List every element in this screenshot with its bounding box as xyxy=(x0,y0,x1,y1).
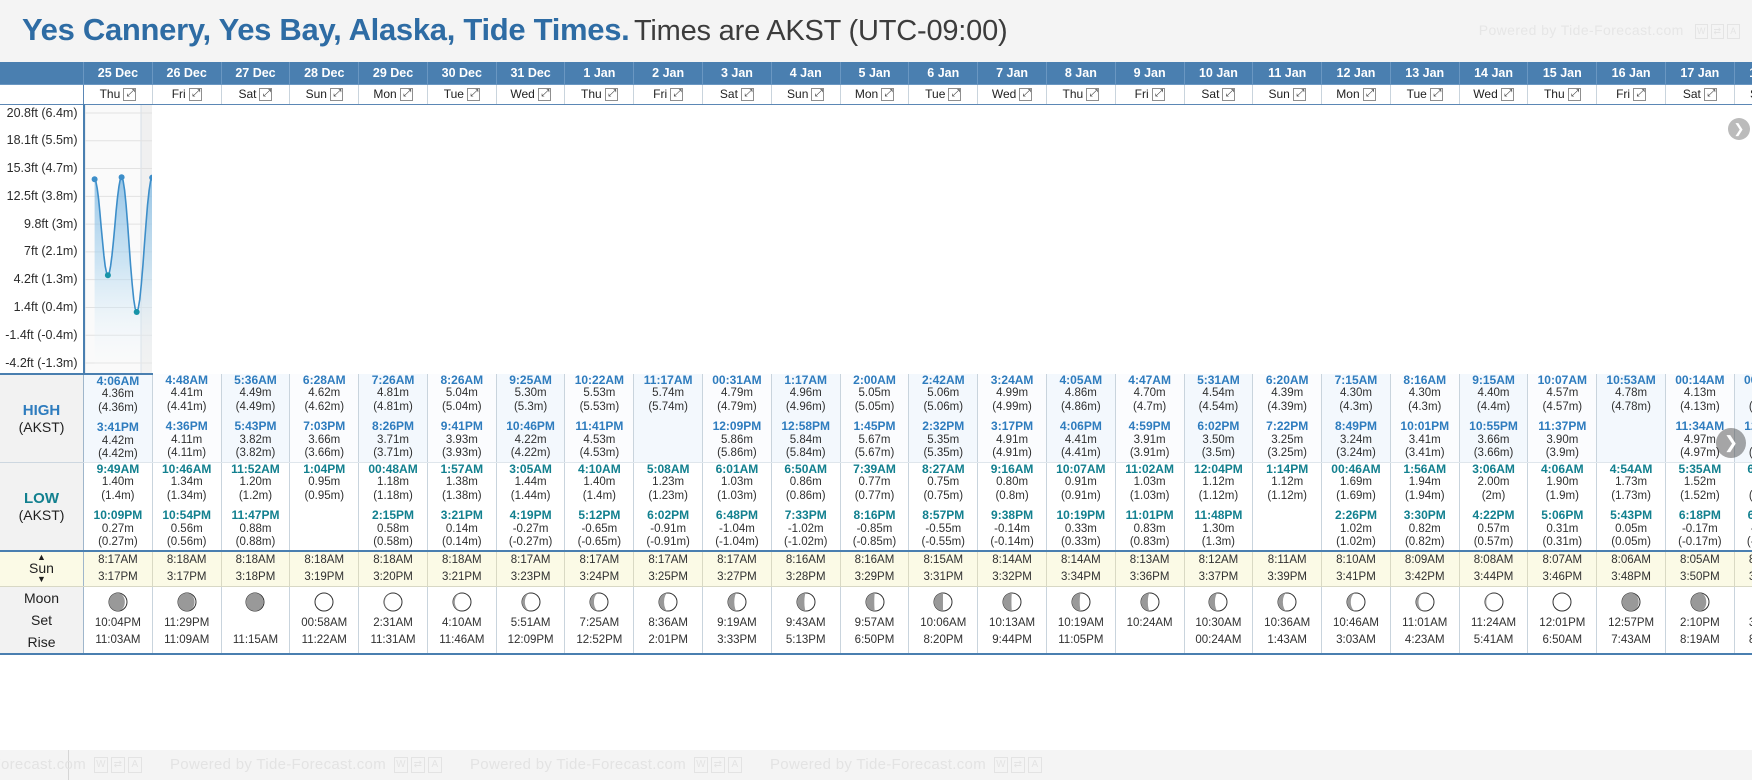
tide-entry: 1:45PM5.67m(5.67m) xyxy=(841,420,909,461)
high-tide-cell: 10:53AM4.78m(4.78m) xyxy=(1597,374,1666,463)
low-tide-time: 8:16PM xyxy=(841,509,909,523)
weekday-label: Thu xyxy=(100,87,121,101)
date-header-cell[interactable]: 16 Jan xyxy=(1597,62,1666,84)
weekday-cell[interactable]: Sat xyxy=(1665,84,1734,104)
sunset-time: 3:25PM xyxy=(634,569,702,586)
low-tide-height-alt: (1.12m) xyxy=(1253,490,1321,504)
moonrise-time: 5:41AM xyxy=(1460,632,1528,649)
tide-entry: 4:47AM4.70m(4.7m) xyxy=(1116,374,1184,415)
sun-cell: 8:05AM3:50PM xyxy=(1665,551,1734,587)
sunrise-time: 8:16AM xyxy=(772,552,840,569)
tide-entry: 5:06PM0.31m(0.31m) xyxy=(1528,509,1596,550)
date-header-cell[interactable]: 26 Dec xyxy=(152,62,221,84)
date-header-cell[interactable]: 8 Jan xyxy=(1046,62,1115,84)
weekday-label: Sun xyxy=(787,87,808,101)
high-tide-height: 4.57m xyxy=(1528,387,1596,401)
sunset-time: 3:17PM xyxy=(153,569,221,586)
low-tide-time: 4:06AM xyxy=(1528,463,1596,477)
low-tide-time: 3:30PM xyxy=(1391,509,1459,523)
date-header-cell[interactable]: 6 Jan xyxy=(909,62,978,84)
moonrise-label-text: Rise xyxy=(0,631,83,653)
sunrise-time: 8:09AM xyxy=(1391,552,1459,569)
scroll-right-button[interactable]: ❯ xyxy=(1716,428,1746,458)
low-tide-time: 11:47PM xyxy=(222,509,290,523)
high-tide-height: 4.41m xyxy=(1047,434,1115,448)
weekday-cell[interactable]: Mon xyxy=(1322,84,1391,104)
moonrise-time: 6:50AM xyxy=(1528,632,1596,649)
low-tide-time: 6:51PM xyxy=(1735,509,1752,523)
y-axis-tick-label: 18.1ft (5.5m) xyxy=(7,133,78,147)
low-tide-height: 0.14m xyxy=(428,523,496,537)
weekday-cell[interactable]: Tue xyxy=(1390,84,1459,104)
high-tide-height: 4.54m xyxy=(1185,387,1253,401)
high-tide-cell: 1:17AM4.96m(4.96m)12:58PM5.84m(5.84m) xyxy=(771,374,840,463)
moon-phase-icon xyxy=(1277,592,1297,612)
high-tide-height: 5.53m xyxy=(565,387,633,401)
weekday-cell[interactable]: Sun xyxy=(1734,84,1752,104)
low-tide-height-alt: (-0.55m) xyxy=(909,536,977,550)
expand-icon[interactable] xyxy=(881,88,894,101)
sun-cell: 8:12AM3:37PM xyxy=(1184,551,1253,587)
high-tide-height: 5.05m xyxy=(841,387,909,401)
expand-icon[interactable] xyxy=(259,88,272,101)
tide-entry: 1:17AM4.96m(4.96m) xyxy=(772,374,840,415)
low-tide-height: -0.65m xyxy=(565,523,633,537)
expand-icon[interactable] xyxy=(1704,88,1717,101)
expand-icon[interactable] xyxy=(189,88,202,101)
moonset-time: 10:36AM xyxy=(1253,615,1321,632)
low-tide-time: 2:26PM xyxy=(1322,509,1390,523)
expand-icon[interactable] xyxy=(400,88,413,101)
high-tide-height: 4.49m xyxy=(222,387,290,401)
high-tide-height-alt: (5.74m) xyxy=(634,401,702,415)
sunset-time: 3:50PM xyxy=(1666,569,1734,586)
tide-entry: 11:01PM0.83m(0.83m) xyxy=(1116,509,1184,550)
sun-cell: 8:18AM3:20PM xyxy=(359,551,428,587)
weekday-cell[interactable]: Mon xyxy=(840,84,909,104)
tide-entry: 10:46AM1.34m(1.34m) xyxy=(153,463,221,504)
high-tide-height: 3.91m xyxy=(1116,434,1184,448)
date-header-cell[interactable]: 28 Dec xyxy=(290,62,359,84)
moonrise-time: 11:46AM xyxy=(428,632,496,649)
low-tide-height: 1.73m xyxy=(1597,476,1665,490)
tide-entry: 2:32PM5.35m(5.35m) xyxy=(909,420,977,461)
low-tide-time: 10:19PM xyxy=(1047,509,1115,523)
moon-phase-icon xyxy=(1208,592,1228,612)
weekday-label: Fri xyxy=(172,87,186,101)
weekday-cell[interactable]: Fri xyxy=(1597,84,1666,104)
moon-phase-icon xyxy=(383,592,403,612)
weekday-cell[interactable]: Fri xyxy=(1115,84,1184,104)
weekday-cell[interactable]: Fri xyxy=(152,84,221,104)
low-tide-height: 1.03m xyxy=(703,476,771,490)
sunrise-time: 8:17AM xyxy=(703,552,771,569)
tide-entry: 2:42AM5.06m(5.06m) xyxy=(909,374,977,415)
expand-icon[interactable] xyxy=(670,88,683,101)
low-tide-cell: 1:57AM1.38m(1.38m)3:21PM0.14m(0.14m) xyxy=(427,462,496,551)
low-tide-cell: 11:02AM1.03m(1.03m)11:01PM0.83m(0.83m) xyxy=(1115,462,1184,551)
high-tide-height: 4.36m xyxy=(84,388,152,402)
moonrise-time: 11:31AM xyxy=(359,632,427,649)
high-tide-time: 10:22AM xyxy=(565,374,633,388)
low-tide-cell: 10:46AM1.34m(1.34m)10:54PM0.56m(0.56m) xyxy=(152,462,221,551)
low-tide-height-alt: (0.91m) xyxy=(1047,490,1115,504)
weekday-cell[interactable]: Wed xyxy=(1459,84,1528,104)
sunset-time: 3:41PM xyxy=(1322,569,1390,586)
high-tide-time: 9:41PM xyxy=(428,420,496,434)
expand-icon[interactable] xyxy=(1363,88,1376,101)
low-tide-height-alt: (1.73m) xyxy=(1597,490,1665,504)
tide-entry: 11:17AM5.74m(5.74m) xyxy=(634,374,702,415)
tide-entry: 7:03PM3.66m(3.66m) xyxy=(290,420,358,461)
weekday-label: Thu xyxy=(581,87,602,101)
tide-entry: 4:06AM1.90m(1.9m) xyxy=(1528,463,1596,504)
sun-cell: 8:16AM3:28PM xyxy=(771,551,840,587)
high-tide-time: 1:17AM xyxy=(772,374,840,388)
high-tide-time: 10:01PM xyxy=(1391,420,1459,434)
sun-cell: 8:06AM3:48PM xyxy=(1597,551,1666,587)
moonrise-time: 3:33PM xyxy=(703,632,771,649)
watermark-badge-swap: ⇄ xyxy=(1011,757,1025,773)
high-tide-height: 5.84m xyxy=(772,434,840,448)
low-tide-height: 1.31m xyxy=(1735,476,1752,490)
moonset-time: 9:43AM xyxy=(772,615,840,632)
high-tide-time: 12:09PM xyxy=(703,420,771,434)
high-tide-height-alt: (4.11m) xyxy=(153,447,221,461)
moonrise-time: 11:03AM xyxy=(84,632,152,649)
date-header-cell[interactable]: 11 Jan xyxy=(1253,62,1322,84)
high-tide-time: 7:03PM xyxy=(290,420,358,434)
date-header-cell[interactable]: 18 Jan xyxy=(1734,62,1752,84)
tide-entry: 6:50AM0.86m(0.86m) xyxy=(772,463,840,504)
tide-entry: 3:21PM0.14m(0.14m) xyxy=(428,509,496,550)
high-tide-height: 3.71m xyxy=(359,434,427,448)
low-tide-time: 00:48AM xyxy=(359,463,427,477)
watermark-badge-w: W xyxy=(394,757,408,773)
moon-cell: 10:06AM8:20PM xyxy=(909,586,978,654)
watermark-badges: W⇄A xyxy=(994,757,1042,773)
tide-entry: 10:55PM3.66m(3.66m) xyxy=(1460,420,1528,461)
powered-by-text: Powered by Tide-Forecast.comW⇄A xyxy=(770,756,1070,773)
sunset-time: 3:52PM xyxy=(1735,569,1752,586)
sun-cell: 8:11AM3:39PM xyxy=(1253,551,1322,587)
weekday-label: Mon xyxy=(855,87,878,101)
y-axis-tick-label: 9.8ft (3m) xyxy=(24,217,78,231)
high-tide-time: 5:31AM xyxy=(1185,374,1253,388)
moon-phase-icon xyxy=(1552,592,1572,612)
sun-cell: 8:18AM3:19PM xyxy=(290,551,359,587)
low-tide-height: 0.86m xyxy=(772,476,840,490)
expand-icon[interactable] xyxy=(123,88,136,101)
low-tide-height: 0.57m xyxy=(1460,523,1528,537)
high-tide-time: 4:06AM xyxy=(84,375,152,389)
low-tide-height: -1.04m xyxy=(703,523,771,537)
date-header-corner xyxy=(0,62,84,84)
sun-cell: 8:14AM3:34PM xyxy=(1046,551,1115,587)
high-tide-time: 11:41PM xyxy=(565,420,633,434)
low-tide-time: 11:02AM xyxy=(1116,463,1184,477)
low-tide-height-alt: (-0.85m) xyxy=(841,536,909,550)
expand-icon[interactable] xyxy=(467,88,480,101)
low-tide-height-alt: (1.69m) xyxy=(1322,490,1390,504)
low-tide-time: 11:52AM xyxy=(222,463,290,477)
weekday-cell[interactable]: Thu xyxy=(84,84,153,104)
weekday-label: Wed xyxy=(992,87,1016,101)
low-tide-height: 0.56m xyxy=(153,523,221,537)
high-tide-height: 3.25m xyxy=(1253,434,1321,448)
date-header-cell[interactable]: 27 Dec xyxy=(221,62,290,84)
high-tide-time: 6:02PM xyxy=(1185,420,1253,434)
low-tide-height: 1.44m xyxy=(497,476,565,490)
weekday-cell[interactable]: Sun xyxy=(1253,84,1322,104)
sun-cell: 8:16AM3:29PM xyxy=(840,551,909,587)
expand-icon[interactable] xyxy=(1019,88,1032,101)
low-tide-height-alt: (0.95m) xyxy=(290,490,358,504)
moon-cell: 12:01PM6:50AM xyxy=(1528,586,1597,654)
tide-entry: 3:06AM2.00m(2m) xyxy=(1460,463,1528,504)
high-tide-height-alt: (5.3m) xyxy=(497,401,565,415)
weekday-cell[interactable]: Tue xyxy=(909,84,978,104)
low-tide-height-alt: (0.05m) xyxy=(1597,536,1665,550)
date-header-cell[interactable]: 4 Jan xyxy=(771,62,840,84)
high-tide-time: 4:59PM xyxy=(1116,420,1184,434)
high-tide-time: 11:17AM xyxy=(634,374,702,388)
tide-entry: 6:13AM1.31m(1.31m) xyxy=(1735,463,1752,504)
expand-icon[interactable] xyxy=(1633,88,1646,101)
high-tide-height-alt: (4.86m) xyxy=(1047,401,1115,415)
weekday-cell[interactable]: Sat xyxy=(221,84,290,104)
weekday-label: Tue xyxy=(1407,87,1427,101)
weekday-cell[interactable]: Wed xyxy=(496,84,565,104)
sunrise-time: 8:12AM xyxy=(1185,552,1253,569)
moon-cell: 3:33PM8:41AM xyxy=(1734,586,1752,654)
date-header-cell[interactable]: 9 Jan xyxy=(1115,62,1184,84)
date-header-cell[interactable]: 25 Dec xyxy=(84,62,153,84)
expand-icon[interactable] xyxy=(741,88,754,101)
moon-phase-icon xyxy=(727,592,747,612)
watermark-badge-w: W xyxy=(1695,24,1708,39)
watermark-badges: W ⇄ A xyxy=(1695,24,1740,39)
date-header-cell[interactable]: 15 Jan xyxy=(1528,62,1597,84)
low-tide-height-alt: (0.86m) xyxy=(772,490,840,504)
high-tide-time: 00:14AM xyxy=(1666,374,1734,388)
moonrise-time: 3:03AM xyxy=(1322,632,1390,649)
date-header-cell[interactable]: 3 Jan xyxy=(703,62,772,84)
moon-cell: 9:57AM6:50PM xyxy=(840,586,909,654)
moonset-time: 11:29PM xyxy=(153,615,221,632)
date-header-cell[interactable]: 2 Jan xyxy=(634,62,703,84)
date-header-cell[interactable]: 13 Jan xyxy=(1390,62,1459,84)
sunset-time: 3:39PM xyxy=(1253,569,1321,586)
expand-icon[interactable] xyxy=(330,88,343,101)
high-tide-time: 9:15AM xyxy=(1460,374,1528,388)
high-tide-time: 2:00AM xyxy=(841,374,909,388)
low-tide-height-alt: (1.03m) xyxy=(703,490,771,504)
high-tide-height-alt: (4.53m) xyxy=(565,447,633,461)
expand-icon[interactable] xyxy=(948,88,961,101)
high-tide-height: 4.30m xyxy=(1322,387,1390,401)
moon-phase-icon xyxy=(1415,592,1435,612)
date-header-cell[interactable]: 12 Jan xyxy=(1322,62,1391,84)
high-tide-height: 3.66m xyxy=(1460,434,1528,448)
sun-cell: 8:03AM3:52PM xyxy=(1734,551,1752,587)
tide-entry: 12:58PM5.84m(5.84m) xyxy=(772,420,840,461)
high-tide-marker xyxy=(118,174,124,180)
expand-icon[interactable] xyxy=(1501,88,1514,101)
expand-icon[interactable] xyxy=(1086,88,1099,101)
moonset-time: 10:30AM xyxy=(1185,615,1253,632)
sunrise-time: 8:18AM xyxy=(428,552,496,569)
tide-entry: 5:36AM4.49m(4.49m) xyxy=(222,374,290,415)
date-header-cell[interactable]: 30 Dec xyxy=(427,62,496,84)
weekday-cell[interactable]: Sat xyxy=(1184,84,1253,104)
weekday-cell[interactable]: Sun xyxy=(290,84,359,104)
moonrise-time: 5:13PM xyxy=(772,632,840,649)
weekday-cell[interactable]: Wed xyxy=(978,84,1047,104)
low-tide-cell: 8:27AM0.75m(0.75m)8:57PM-0.55m(-0.55m) xyxy=(909,462,978,551)
sunrise-time: 8:18AM xyxy=(359,552,427,569)
powered-by-watermark-top: Powered by Tide-Forecast.com W ⇄ A xyxy=(1479,22,1740,39)
moonset-time xyxy=(222,615,290,632)
watermark-badge-a: A xyxy=(428,757,442,773)
low-tide-height-alt: (0.83m) xyxy=(1116,536,1184,550)
low-tide-height: 0.91m xyxy=(1047,476,1115,490)
scroll-right-button-top[interactable]: ❯ xyxy=(1728,118,1750,140)
moon-phase-icon xyxy=(933,592,953,612)
powered-by-text: Powered by Tide-Forecast.comW⇄A xyxy=(470,756,770,773)
high-tide-time: 7:26AM xyxy=(359,374,427,388)
watermark-badges: W⇄A xyxy=(694,757,742,773)
low-tide-time: 7:33PM xyxy=(772,509,840,523)
low-tide-cell: 7:39AM0.77m(0.77m)8:16PM-0.85m(-0.85m) xyxy=(840,462,909,551)
low-tide-height-alt: (1.38m) xyxy=(428,490,496,504)
tide-entry: 00:31AM4.79m(4.79m) xyxy=(703,374,771,415)
low-tide-height-alt: (1.12m) xyxy=(1185,490,1253,504)
sun-cell: 8:17AM3:25PM xyxy=(634,551,703,587)
moon-phase-icon xyxy=(796,592,816,612)
moonrise-time: 8:19AM xyxy=(1666,632,1734,649)
low-tide-cell: 9:16AM0.80m(0.8m)9:38PM-0.14m(-0.14m) xyxy=(978,462,1047,551)
moon-cell: 4:10AM11:46AM xyxy=(427,586,496,654)
low-tide-height-alt: (0.33m) xyxy=(1047,536,1115,550)
high-tide-height-alt: (4.13m) xyxy=(1666,401,1734,415)
moonset-time: 00:58AM xyxy=(290,615,358,632)
tide-entry: 10:19PM0.33m(0.33m) xyxy=(1047,509,1115,550)
high-tide-marker xyxy=(91,176,97,182)
weekday-cell[interactable]: Thu xyxy=(1528,84,1597,104)
weekday-cell[interactable]: Thu xyxy=(1046,84,1115,104)
sunrise-time: 8:10AM xyxy=(1322,552,1390,569)
high-tide-height-alt: (4.7m) xyxy=(1116,401,1184,415)
low-tide-height: 1.02m xyxy=(1322,523,1390,537)
moon-cell: 11:15AM xyxy=(221,586,290,654)
high-tide-height: 4.30m xyxy=(1391,387,1459,401)
tide-curve-chart[interactable] xyxy=(84,104,153,374)
tide-entry: 2:00AM5.05m(5.05m) xyxy=(841,374,909,415)
weekday-cell[interactable]: Sun xyxy=(771,84,840,104)
weekday-cell[interactable]: Tue xyxy=(427,84,496,104)
date-header-cell[interactable]: 31 Dec xyxy=(496,62,565,84)
low-tide-time: 8:27AM xyxy=(909,463,977,477)
expand-icon[interactable] xyxy=(1293,88,1306,101)
high-tide-label-sub: (AKST) xyxy=(19,419,65,435)
tide-entry: 4:06PM4.41m(4.41m) xyxy=(1047,420,1115,461)
date-header-cell[interactable]: 1 Jan xyxy=(565,62,634,84)
y-axis-tick-label: 20.8ft (6.4m) xyxy=(7,106,78,120)
expand-icon[interactable] xyxy=(1430,88,1443,101)
moon-phase-icon xyxy=(589,592,609,612)
weekday-cell[interactable]: Thu xyxy=(565,84,634,104)
low-tide-height: 1.90m xyxy=(1528,476,1596,490)
date-header-cell[interactable]: 17 Jan xyxy=(1665,62,1734,84)
weekday-cell[interactable]: Sat xyxy=(703,84,772,104)
high-tide-cell: 4:05AM4.86m(4.86m)4:06PM4.41m(4.41m) xyxy=(1046,374,1115,463)
high-tide-time: 4:48AM xyxy=(153,374,221,388)
date-header-cell[interactable]: 14 Jan xyxy=(1459,62,1528,84)
expand-icon[interactable] xyxy=(605,88,618,101)
moonrise-time: 11:15AM xyxy=(222,632,290,649)
expand-icon[interactable] xyxy=(1222,88,1235,101)
high-tide-height-alt: (3.41m) xyxy=(1391,447,1459,461)
high-tide-height-alt: (3.91m) xyxy=(1116,447,1184,461)
low-tide-height-alt: (0.56m) xyxy=(153,536,221,550)
weekday-cell[interactable]: Fri xyxy=(634,84,703,104)
y-axis-tick-label: 12.5ft (3.8m) xyxy=(7,189,78,203)
date-header-cell[interactable]: 10 Jan xyxy=(1184,62,1253,84)
tide-entry: 6:20AM4.39m(4.39m) xyxy=(1253,374,1321,415)
low-tide-cell: 6:50AM0.86m(0.86m)7:33PM-1.02m(-1.02m) xyxy=(771,462,840,551)
high-tide-label-title: HIGH xyxy=(0,402,83,419)
expand-icon[interactable] xyxy=(538,88,551,101)
low-tide-height: 1.69m xyxy=(1322,476,1390,490)
high-tide-height: 4.79m xyxy=(703,387,771,401)
moon-phase-icon xyxy=(658,592,678,612)
low-tide-time: 5:12PM xyxy=(565,509,633,523)
tide-entry: 5:35AM1.52m(1.52m) xyxy=(1666,463,1734,504)
sunrise-time: 8:15AM xyxy=(909,552,977,569)
low-tide-height-alt: (1.94m) xyxy=(1391,490,1459,504)
low-tide-height: 0.83m xyxy=(1116,523,1184,537)
high-tide-height-alt: (5.84m) xyxy=(772,447,840,461)
date-header-cell[interactable]: 29 Dec xyxy=(359,62,428,84)
tide-table-scroll-region[interactable]: 25 Dec26 Dec27 Dec28 Dec29 Dec30 Dec31 D… xyxy=(0,62,1752,780)
tide-entry: 3:05AM1.44m(1.44m) xyxy=(497,463,565,504)
low-tide-height: 0.58m xyxy=(359,523,427,537)
low-tide-height-alt: (0.82m) xyxy=(1391,536,1459,550)
low-tide-height: -1.02m xyxy=(772,523,840,537)
date-header-cell[interactable]: 7 Jan xyxy=(978,62,1047,84)
weekday-label: Sun xyxy=(306,87,327,101)
low-tide-height-alt: (1.03m) xyxy=(1116,490,1184,504)
high-tide-height-alt: (4.49m) xyxy=(222,401,290,415)
date-header-cell[interactable]: 5 Jan xyxy=(840,62,909,84)
low-tide-label: LOW (AKST) xyxy=(0,462,84,551)
sun-cell: 8:17AM3:17PM xyxy=(84,551,153,587)
low-tide-marker xyxy=(104,272,110,278)
weekday-cell[interactable]: Mon xyxy=(359,84,428,104)
low-tide-height-alt: (1.52m) xyxy=(1666,490,1734,504)
moonset-time: 3:33PM xyxy=(1735,615,1752,632)
expand-icon[interactable] xyxy=(1152,88,1165,101)
expand-icon[interactable] xyxy=(1568,88,1581,101)
low-tide-height: 1.52m xyxy=(1666,476,1734,490)
tide-entry: 5:43PM0.05m(0.05m) xyxy=(1597,509,1665,550)
moon-phase-icon xyxy=(452,592,472,612)
high-tide-height-alt: (4.96m) xyxy=(772,401,840,415)
moon-cell: 10:04PM11:03AM xyxy=(84,586,153,654)
watermark-badges: W⇄A xyxy=(94,757,142,773)
expand-icon[interactable] xyxy=(811,88,824,101)
